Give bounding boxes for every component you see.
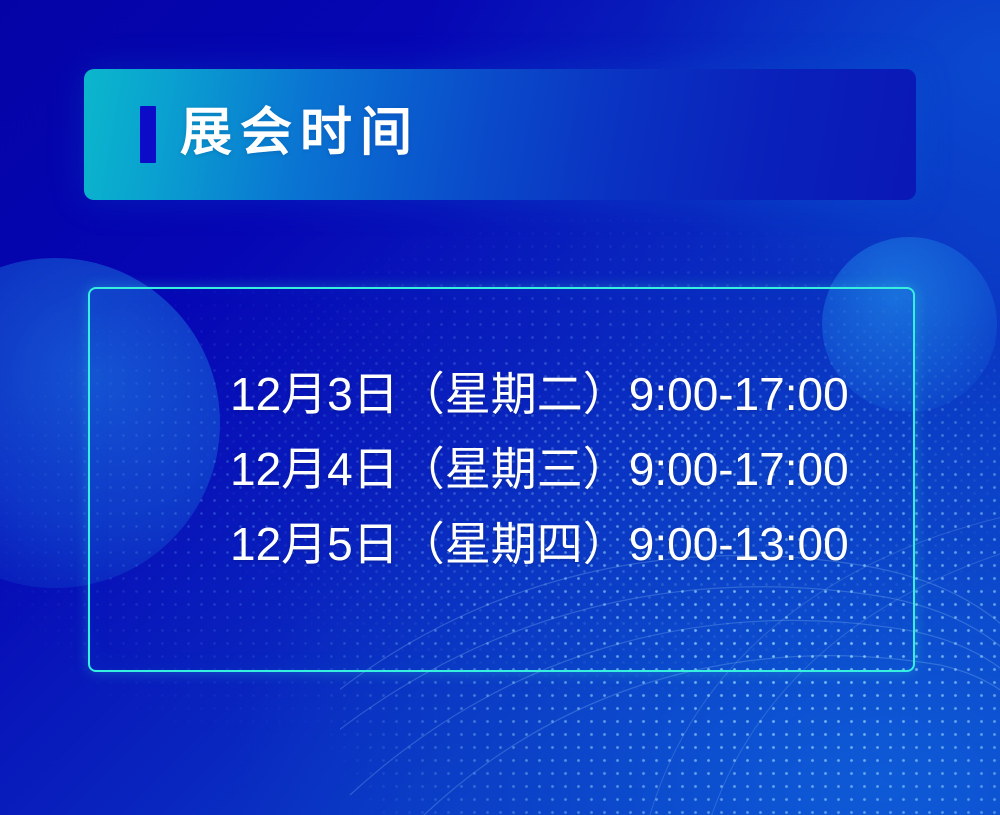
section-header-bar: 展会时间 <box>84 69 916 200</box>
header-accent-bar <box>140 106 156 163</box>
schedule-line-3: 12月5日（星期四）9:00-13:00 <box>230 507 870 582</box>
schedule-line-1: 12月3日（星期二）9:00-17:00 <box>230 357 870 432</box>
page-title: 展会时间 <box>180 97 420 169</box>
schedule-line-2: 12月4日（星期三）9:00-17:00 <box>230 432 870 507</box>
poster-canvas: 展会时间 12月3日（星期二）9:00-17:00 12月4日（星期三）9:00… <box>0 0 1000 815</box>
schedule-list: 12月3日（星期二）9:00-17:00 12月4日（星期三）9:00-17:0… <box>230 357 870 582</box>
schedule-frame: 12月3日（星期二）9:00-17:00 12月4日（星期三）9:00-17:0… <box>88 287 915 672</box>
